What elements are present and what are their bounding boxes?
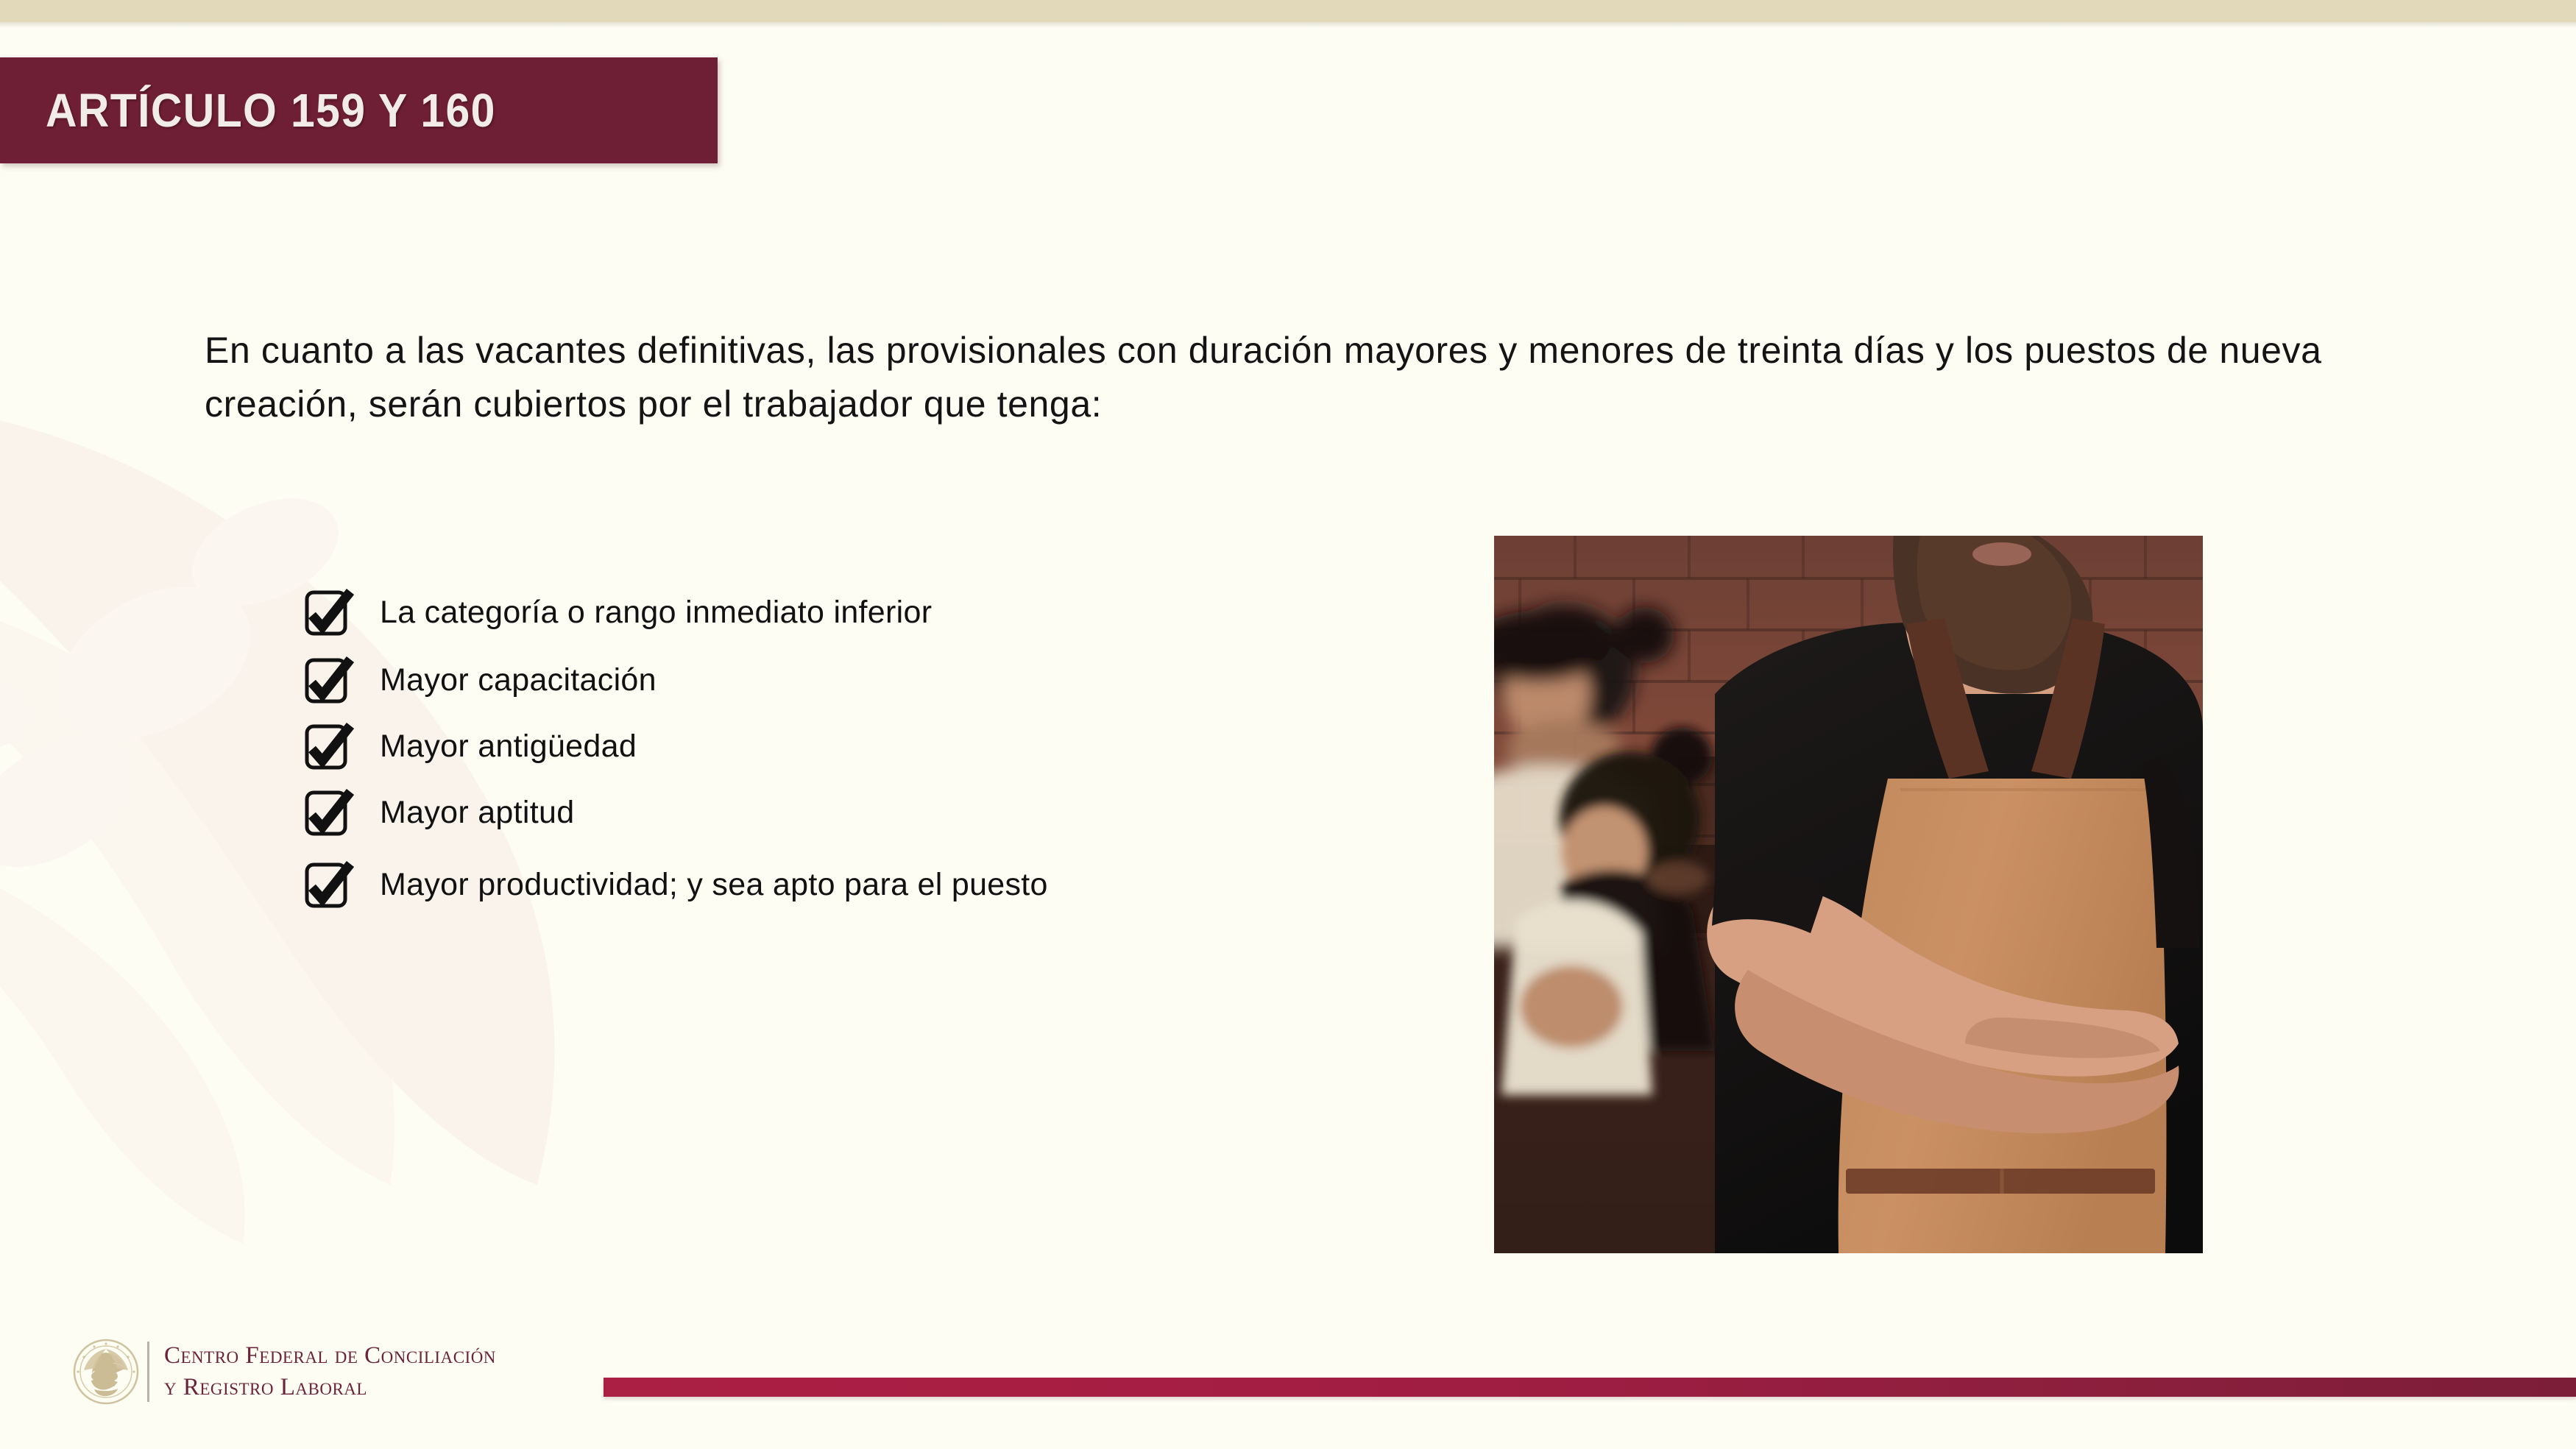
list-item-label: Mayor aptitud (380, 789, 574, 835)
footer-line-1: Centro Federal de Conciliación (164, 1340, 496, 1372)
logo-divider (147, 1342, 149, 1402)
list-item: Mayor capacitación (305, 656, 1151, 704)
mexican-coat-of-arms-seal-icon (72, 1338, 140, 1406)
list-item: Mayor productividad; y sea apto para el … (305, 861, 1151, 908)
list-item-label: Mayor productividad; y sea apto para el … (380, 861, 1048, 907)
list-item-label: Mayor capacitación (380, 656, 657, 703)
slide-title-banner: ARTÍCULO 159 Y 160 (0, 57, 718, 163)
page-title: ARTÍCULO 159 Y 160 (46, 83, 496, 138)
list-item: Mayor antigüedad (305, 723, 1151, 770)
criteria-checklist: La categoría o rango inmediato inferior … (305, 589, 1151, 908)
list-item: Mayor aptitud (305, 789, 1151, 836)
checkbox-checked-icon (305, 724, 347, 770)
bottom-accent-bar (604, 1378, 2576, 1397)
footer-org-name: Centro Federal de Conciliación y Registr… (164, 1340, 496, 1403)
checkbox-checked-icon (305, 658, 347, 704)
intro-paragraph: En cuanto a las vacantes definitivas, la… (205, 324, 2324, 431)
top-band-shadow (0, 22, 2576, 28)
top-accent-band (0, 0, 2576, 22)
checkbox-checked-icon (305, 790, 347, 836)
list-item-label: Mayor antigüedad (380, 723, 637, 769)
list-item: La categoría o rango inmediato inferior (305, 589, 1151, 636)
footer-line-2: y Registro Laboral (164, 1372, 496, 1403)
checkbox-checked-icon (305, 862, 347, 908)
checkbox-checked-icon (305, 590, 347, 636)
footer-logo: Centro Federal de Conciliación y Registr… (72, 1338, 496, 1406)
workers-photo (1494, 536, 2203, 1253)
list-item-label: La categoría o rango inmediato inferior (380, 589, 932, 635)
